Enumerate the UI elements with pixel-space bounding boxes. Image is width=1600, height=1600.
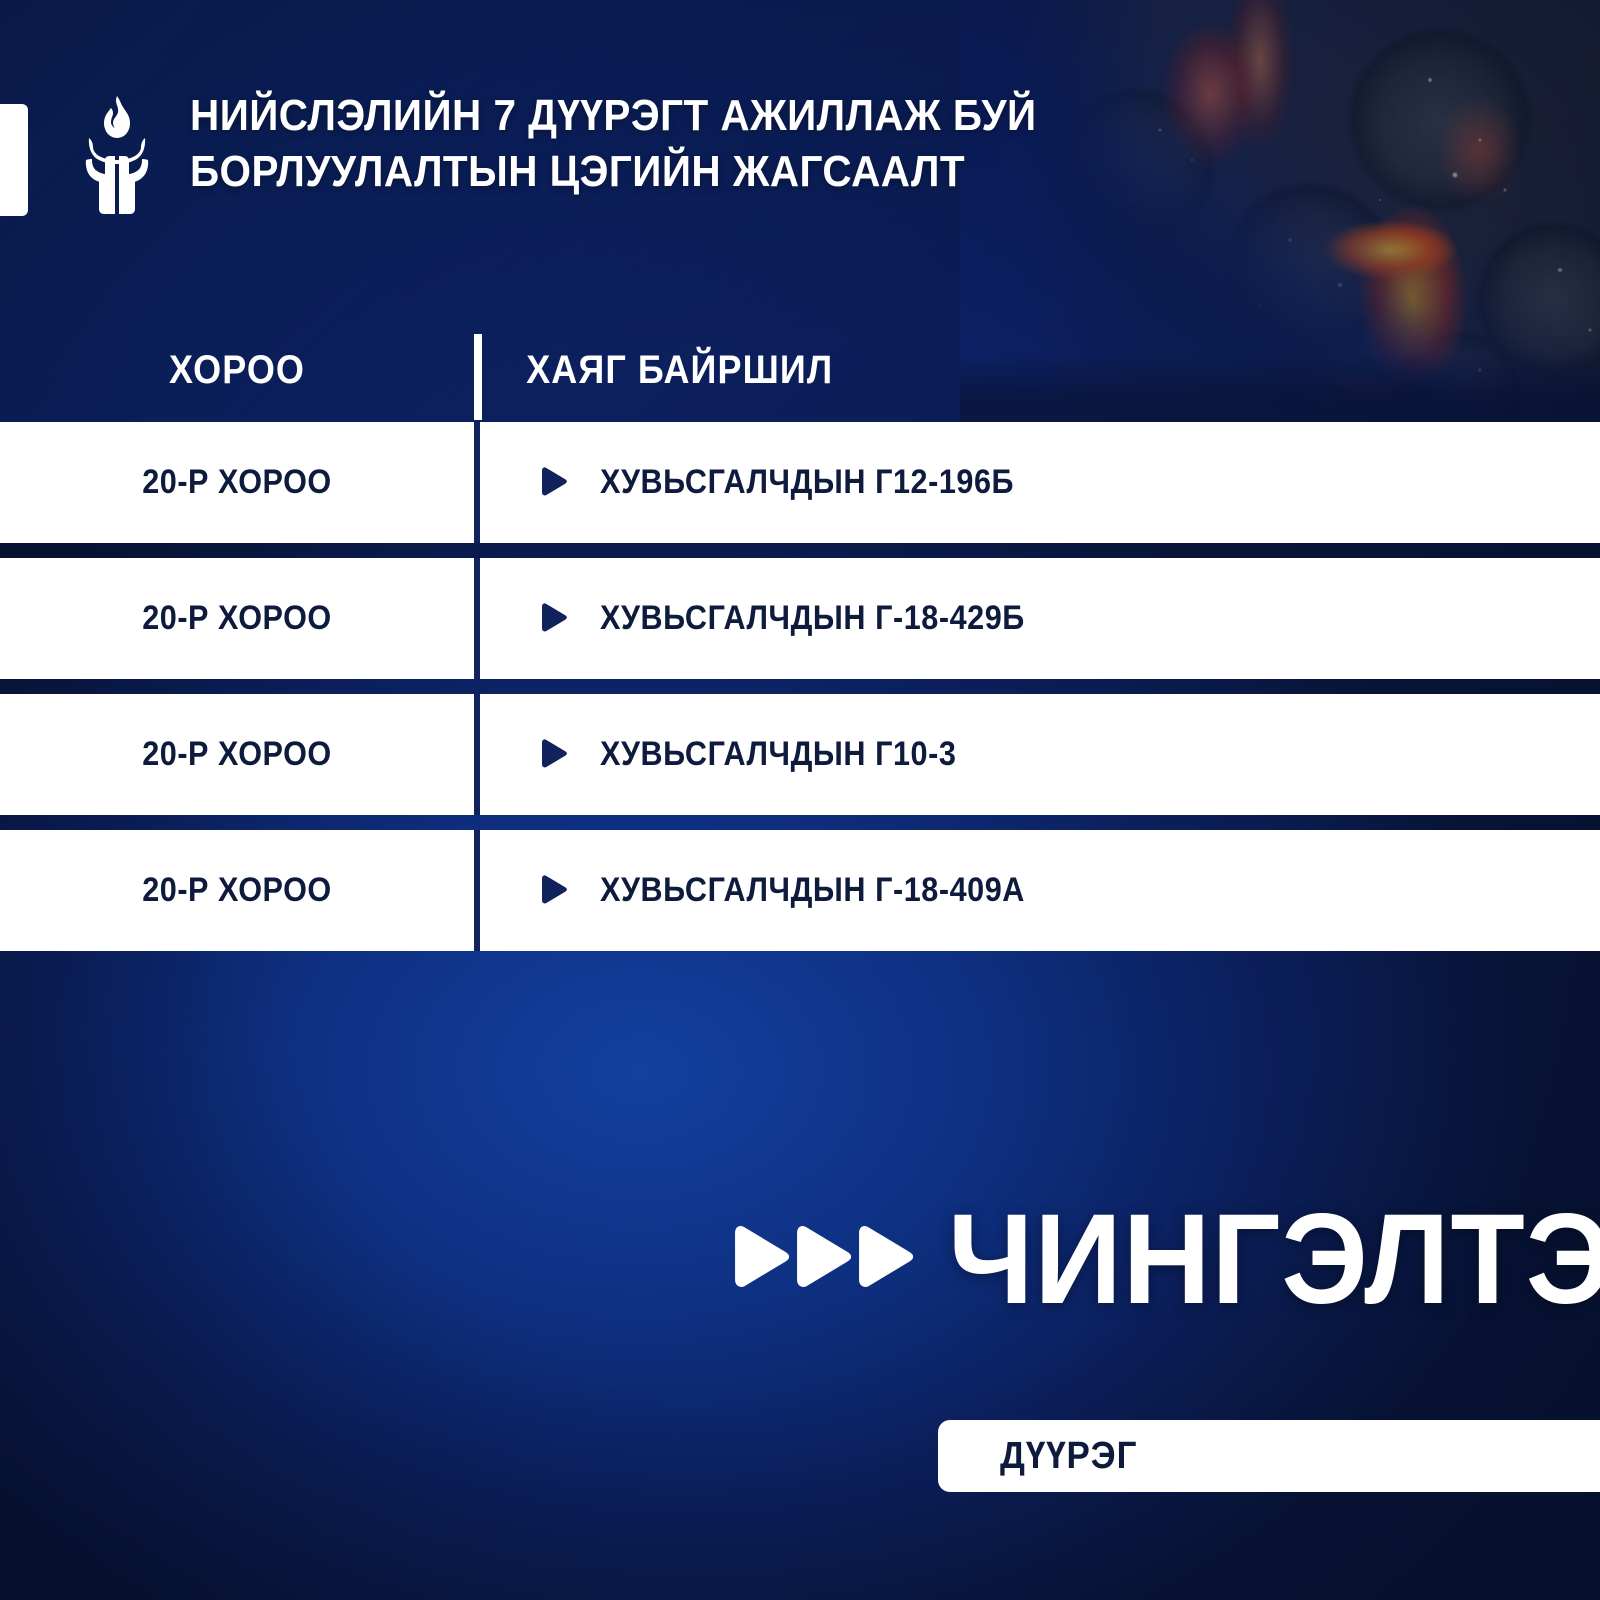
brand-badge-label: ДҮҮРЭГ — [1000, 1435, 1137, 1478]
cell-horoo: 20-Р ХОРОО — [24, 871, 451, 910]
row-column-divider — [474, 694, 480, 815]
table-row[interactable]: 20-Р ХОРОО ХУВЬСГАЛЧДЫН Г-18-409А — [0, 830, 1600, 951]
play-triangle-icon — [536, 466, 570, 500]
brand-name: ЧИНГЭЛТЭЙ — [948, 1196, 1600, 1324]
cell-horoo: 20-Р ХОРОО — [24, 463, 451, 502]
table-row[interactable]: 20-Р ХОРОО ХУВЬСГАЛЧДЫН Г10-3 — [0, 694, 1600, 815]
header: НИЙСЛЭЛИЙН 7 ДҮҮРЭГТ АЖИЛЛАЖ БУЙ БОРЛУУЛ… — [72, 88, 1110, 218]
address-text: ХУВЬСГАЛЧДЫН Г-18-429Б — [600, 599, 1025, 638]
brand-triangles — [722, 1223, 908, 1297]
cell-horoo: 20-Р ХОРОО — [24, 735, 451, 774]
play-triangle-icon — [536, 602, 570, 636]
address-text: ХУВЬСГАЛЧДЫН Г12-196Б — [600, 463, 1014, 502]
row-column-divider — [474, 558, 480, 679]
address-text: ХУВЬСГАЛЧДЫН Г-18-409А — [600, 871, 1025, 910]
torch-brazier-icon — [72, 94, 162, 218]
poster-canvas: НИЙСЛЭЛИЙН 7 ДҮҮРЭГТ АЖИЛЛАЖ БУЙ БОРЛУУЛ… — [0, 0, 1600, 1600]
row-column-divider — [474, 830, 480, 951]
brand-row: ЧИНГЭЛТЭЙ — [700, 1196, 1600, 1324]
sales-points-table: ХОРОО ХАЯГ БАЙРШИЛ 20-Р ХОРОО ХУВЬСГАЛЧД… — [0, 318, 1600, 951]
cell-address: ХУВЬСГАЛЧДЫН Г12-196Б — [474, 463, 1060, 502]
cell-address: ХУВЬСГАЛЧДЫН Г-18-409А — [474, 871, 1072, 910]
table-row[interactable]: 20-Р ХОРОО ХУВЬСГАЛЧДЫН Г12-196Б — [0, 422, 1600, 543]
cell-address: ХУВЬСГАЛЧДЫН Г10-3 — [474, 735, 996, 774]
row-column-divider — [474, 422, 480, 543]
column-header-horoo: ХОРОО — [24, 348, 451, 393]
play-triangle-icon — [536, 738, 570, 772]
play-triangle-icon — [536, 874, 570, 908]
edge-tab — [0, 104, 28, 216]
cell-address: ХУВЬСГАЛЧДЫН Г-18-429Б — [474, 599, 1072, 638]
table-row[interactable]: 20-Р ХОРОО ХУВЬСГАЛЧДЫН Г-18-429Б — [0, 558, 1600, 679]
page-title: НИЙСЛЭЛИЙН 7 ДҮҮРЭГТ АЖИЛЛАЖ БУЙ БОРЛУУЛ… — [190, 88, 1037, 201]
column-header-address: ХАЯГ БАЙРШИЛ — [474, 348, 833, 393]
brand-footer: ЧИНГЭЛТЭЙ ДҮҮРЭГ — [700, 1188, 1600, 1488]
cell-horoo: 20-Р ХОРОО — [24, 599, 451, 638]
brand-badge: ДҮҮРЭГ — [938, 1420, 1600, 1492]
table-header-row: ХОРОО ХАЯГ БАЙРШИЛ — [0, 318, 1600, 422]
play-triangle-icon — [846, 1223, 920, 1297]
address-text: ХУВЬСГАЛЧДЫН Г10-3 — [600, 735, 956, 774]
